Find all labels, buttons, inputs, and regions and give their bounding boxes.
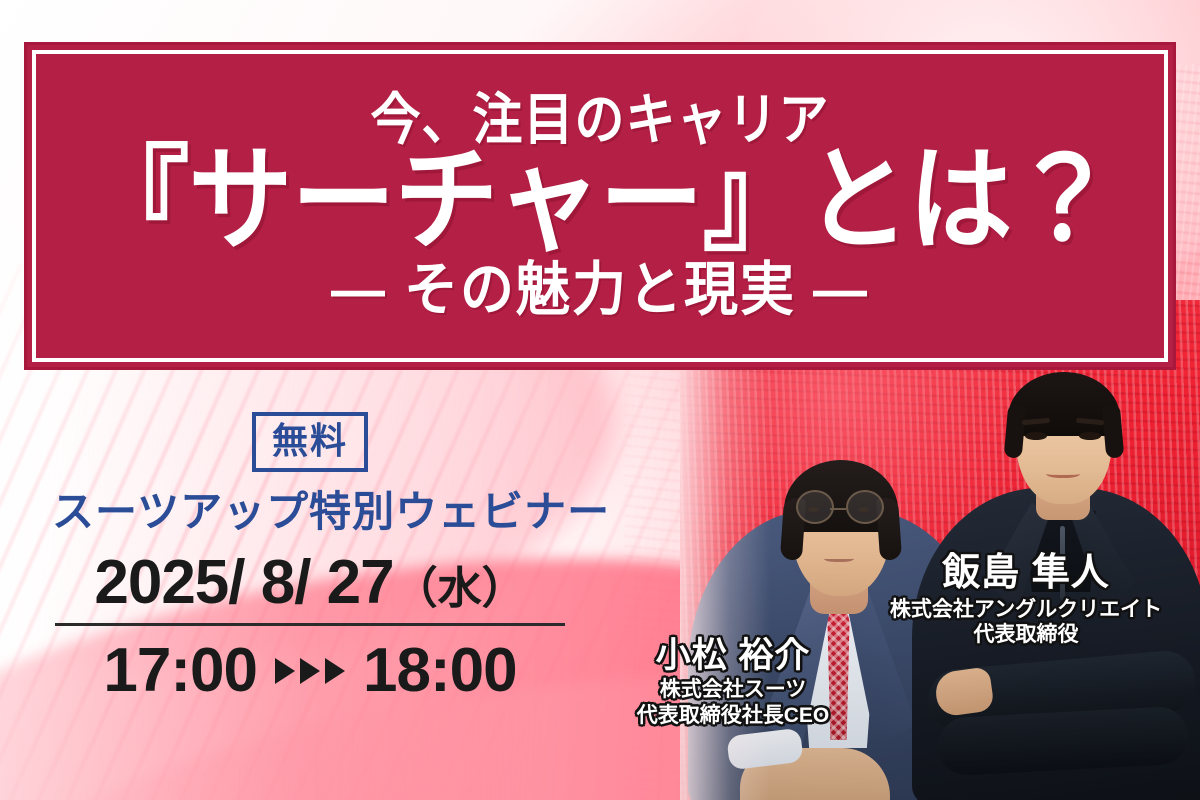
title-subhead: ― その魅力と現実 ― — [331, 261, 869, 319]
mouth — [824, 554, 854, 562]
event-time: 17:00 18:00 — [52, 638, 568, 703]
eyeglass-lens-left — [796, 490, 834, 524]
speaker-role: 代表取締役社長CEO — [618, 704, 848, 728]
info-divider — [55, 623, 565, 626]
arrow-right-icon — [275, 658, 345, 684]
event-day-of-week: （水） — [394, 564, 526, 613]
speaker-company: 株式会社スーツ — [618, 678, 848, 702]
event-info-block: 無料 スーツアップ特別ウェビナー 2025/ 8/ 27（水） 17:00 18… — [52, 412, 568, 703]
speaker-caption-iijima: 飯島 隼人 株式会社アングルクリエイト 代表取締役 — [876, 552, 1176, 647]
arrow-triangle-1 — [275, 658, 295, 684]
eyeglass-bridge — [830, 508, 846, 511]
eye-right — [1079, 432, 1101, 440]
webinar-banner: 今、注目のキャリア 『サーチャー』とは？ ― その魅力と現実 ― 無料 スーツア… — [0, 0, 1200, 800]
speaker-name: 飯島 隼人 — [876, 552, 1176, 595]
event-date-value: 2025/ 8/ 27 — [94, 548, 393, 617]
eye-left — [1025, 432, 1047, 440]
time-end: 18:00 — [363, 638, 517, 703]
title-inner-frame: 今、注目のキャリア 『サーチャー』とは？ ― その魅力と現実 ― — [32, 50, 1168, 362]
title-banner-box: 今、注目のキャリア 『サーチャー』とは？ ― その魅力と現実 ― — [24, 42, 1176, 370]
speaker-role: 代表取締役 — [876, 623, 1176, 647]
hair-side-right — [1102, 403, 1125, 458]
speaker-caption-komatsu: 小松 裕介 株式会社スーツ 代表取締役社長CEO — [618, 636, 848, 727]
free-badge: 無料 — [252, 412, 368, 472]
arrow-triangle-2 — [300, 658, 320, 684]
mouth — [1046, 469, 1080, 478]
speaker-name: 小松 裕介 — [618, 636, 848, 675]
eyeglass-lens-right — [846, 490, 884, 524]
webinar-label: スーツアップ特別ウェビナー — [52, 490, 568, 534]
free-badge-row: 無料 — [52, 412, 568, 472]
speaker-company: 株式会社アングルクリエイト — [876, 598, 1176, 622]
event-date: 2025/ 8/ 27（水） — [52, 550, 568, 615]
page-title: 『サーチャー』とは？ — [86, 142, 1115, 261]
time-start: 17:00 — [103, 638, 257, 703]
arrow-triangle-3 — [325, 658, 345, 684]
